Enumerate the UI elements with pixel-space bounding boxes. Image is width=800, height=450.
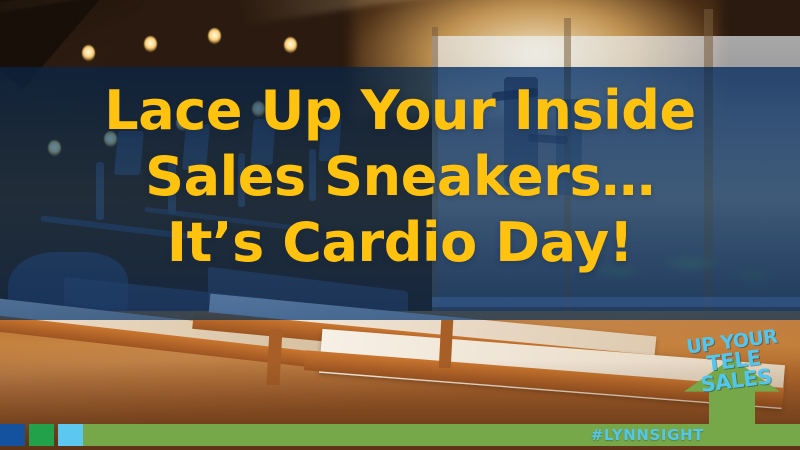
- footer-green-rule: #LYNNSIGHT: [83, 424, 800, 446]
- track-light-icon: [284, 37, 297, 53]
- swatch-green: [29, 424, 54, 446]
- headline-line-1: Lace Up Your Inside: [0, 78, 800, 144]
- track-light-icon: [208, 28, 221, 44]
- hashtag-label: #LYNNSIGHT: [591, 426, 800, 444]
- headline-line-3: It’s Cardio Day!: [0, 210, 800, 276]
- footer-bar: #LYNNSIGHT: [0, 424, 800, 446]
- swatch-cyan: [58, 424, 83, 446]
- promo-poster: Lace Up Your Inside Sales Sneakers… It’s…: [0, 0, 800, 450]
- headline-line-2: Sales Sneakers…: [0, 144, 800, 210]
- headline: Lace Up Your Inside Sales Sneakers… It’s…: [0, 78, 800, 276]
- swatch-blue: [0, 424, 25, 446]
- track-light-icon: [144, 36, 157, 52]
- brand-logo-text: UP YOUR TELE SALES: [670, 334, 794, 391]
